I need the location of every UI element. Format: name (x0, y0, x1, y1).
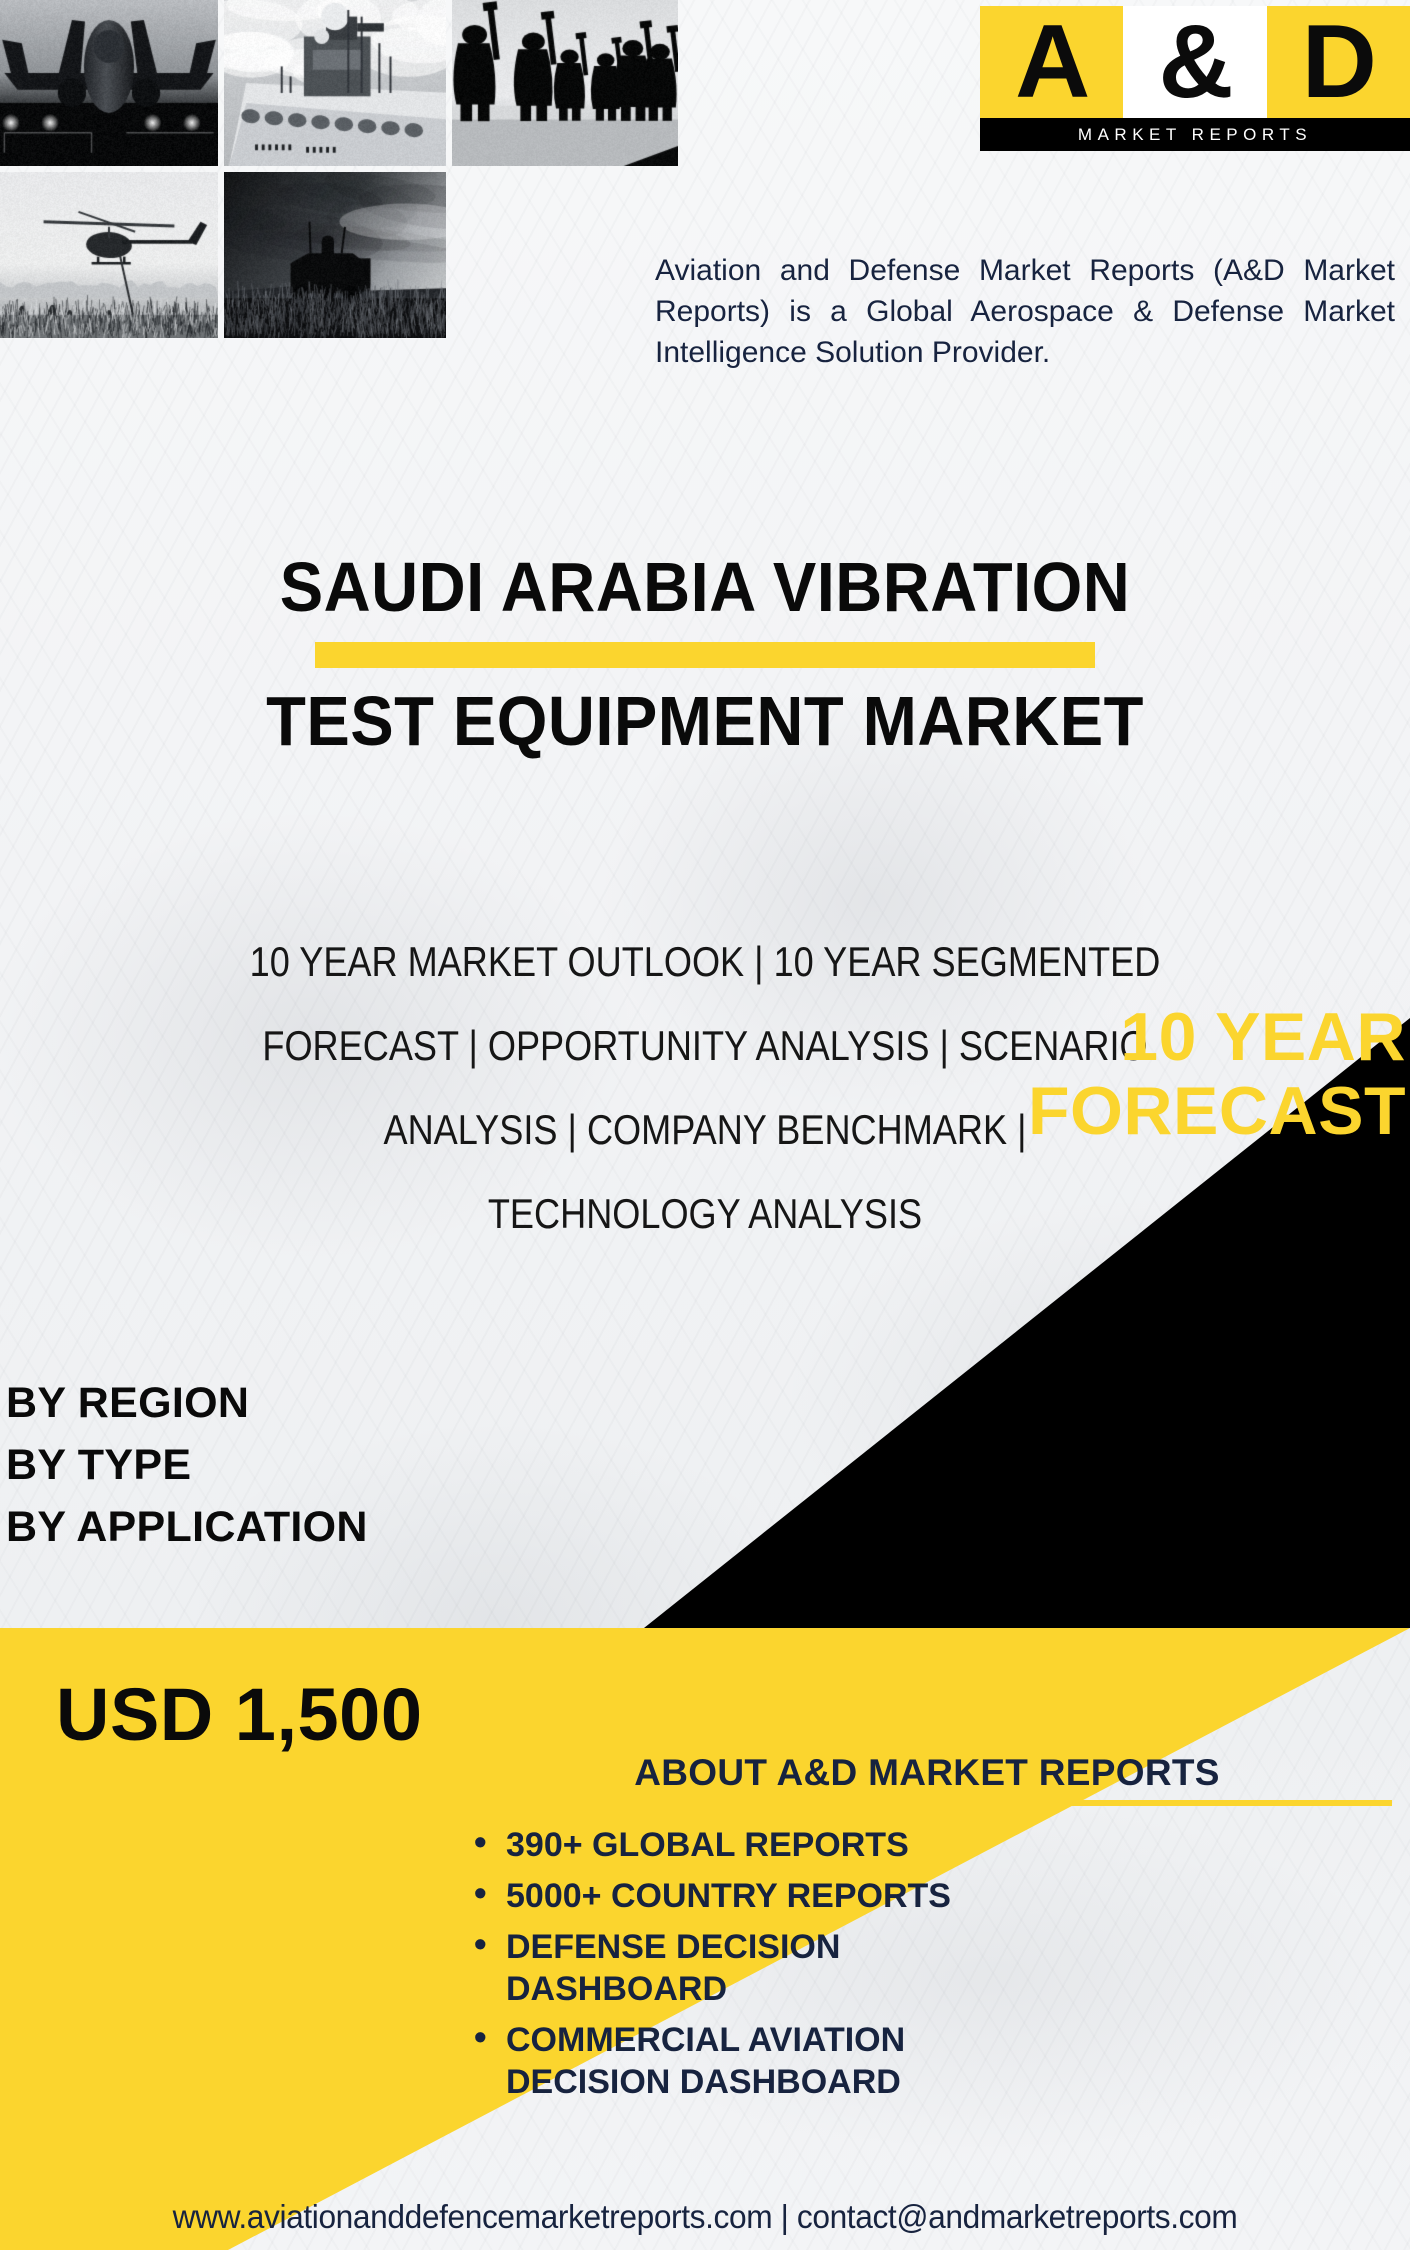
photo-aircraft-carrier (224, 0, 446, 166)
logo-letter-d: D (1267, 6, 1410, 118)
photo-fighter-jet (0, 0, 218, 166)
segmentation-item-by-region: BY REGION (6, 1372, 368, 1434)
report-title-line-1: SAUDI ARABIA VIBRATION (49, 548, 1360, 626)
report-title-line-2: TEST EQUIPMENT MARKET (49, 682, 1360, 760)
brand-logo: A & D MARKET REPORTS (966, 2, 1410, 150)
logo-letter-a: A (980, 6, 1123, 118)
forecast-badge-line-1: 10 YEAR (766, 1000, 1406, 1074)
about-bullet-global-reports: 390+ GLOBAL REPORTS (462, 1824, 1392, 1866)
about-section: ABOUT A&D MARKET REPORTS 390+ GLOBAL REP… (462, 1752, 1392, 2112)
photo-soldiers (452, 0, 678, 166)
about-bullet-list: 390+ GLOBAL REPORTS 5000+ COUNTRY REPORT… (462, 1824, 1392, 2103)
segmentation-item-by-type: BY TYPE (6, 1434, 368, 1496)
about-bullet-commercial-dashboard: COMMERCIAL AVIATION DECISION DASHBOARD (462, 2019, 932, 2103)
logo-subtitle-text: MARKET REPORTS (1078, 125, 1312, 145)
title-yellow-rule (315, 642, 1095, 668)
forecast-badge: 10 YEAR FORECAST (766, 1000, 1406, 1148)
forecast-badge-line-2: FORECAST (766, 1074, 1406, 1148)
segmentation-list: BY REGION BY TYPE BY APPLICATION (6, 1372, 368, 1558)
about-bullet-country-reports: 5000+ COUNTRY REPORTS (462, 1875, 1392, 1917)
about-heading: ABOUT A&D MARKET REPORTS (462, 1752, 1392, 1794)
photo-grid (0, 0, 678, 340)
photo-armored-vehicle (224, 172, 446, 338)
logo-subtitle-bar: MARKET REPORTS (980, 118, 1410, 151)
about-bullet-defense-dashboard: DEFENSE DECISION DASHBOARD (462, 1926, 892, 2010)
photo-helicopter (0, 172, 218, 338)
logo-letter-ampersand: & (1123, 6, 1266, 118)
price-value: USD 1,500 (56, 1672, 422, 1757)
report-title: SAUDI ARABIA VIBRATION TEST EQUIPMENT MA… (0, 548, 1410, 761)
report-subtitle-line-4: TECHNOLOGY ANALYSIS (99, 1172, 1312, 1256)
logo-letters: A & D (980, 6, 1410, 118)
footer-contact: www.aviationanddefencemarketreports.com … (28, 2198, 1382, 2236)
company-intro-paragraph: Aviation and Defense Market Reports (A&D… (655, 250, 1395, 373)
report-subtitle-line-1: 10 YEAR MARKET OUTLOOK | 10 YEAR SEGMENT… (99, 920, 1312, 1004)
about-yellow-rule (462, 1800, 1392, 1806)
segmentation-item-by-application: BY APPLICATION (6, 1496, 368, 1558)
